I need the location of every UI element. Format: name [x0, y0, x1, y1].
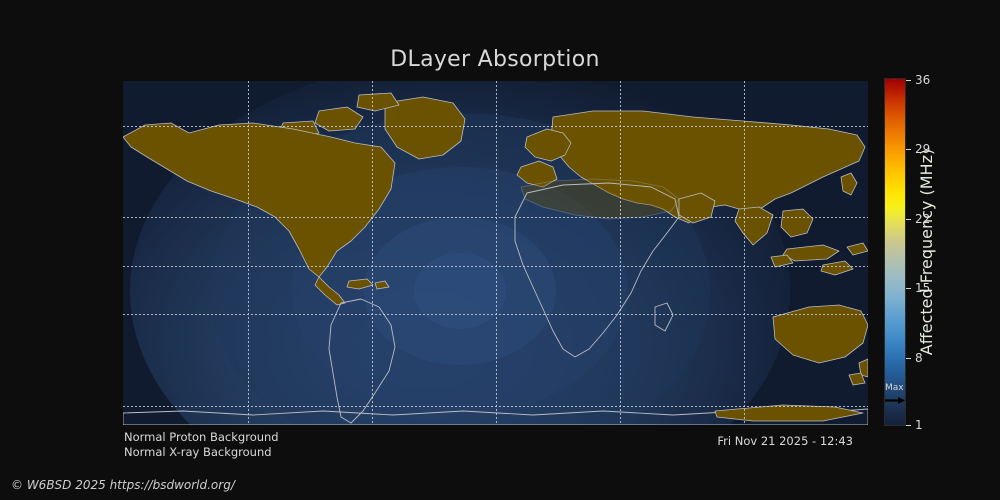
world-map-svg — [123, 81, 868, 425]
dlayer-absorption-screen: DLayer Absorption — [0, 0, 1000, 500]
timestamp: Fri Nov 21 2025 - 12:43 — [717, 434, 853, 448]
colorbar-tick-8 — [906, 358, 911, 359]
colorbar-axis-label: Affected Frequency (MHz) — [916, 78, 938, 426]
colorbar-tick-36 — [906, 80, 911, 81]
colorbar[interactable]: Max 36 29 22 15 8 1 — [884, 78, 906, 426]
proton-background-status: Normal Proton Background — [124, 430, 279, 444]
page-title: DLayer Absorption — [0, 47, 990, 72]
world-map-panel[interactable] — [123, 81, 868, 425]
colorbar-tick-15 — [906, 288, 911, 289]
colorbar-gradient — [884, 78, 906, 426]
colorbar-tick-1 — [906, 425, 911, 426]
xray-background-status: Normal X-ray Background — [124, 445, 272, 459]
colorbar-tick-22 — [906, 219, 911, 220]
colorbar-tick-29 — [906, 149, 911, 150]
copyright-notice[interactable]: © W6BSD 2025 https://bsdworld.org/ — [11, 478, 235, 492]
